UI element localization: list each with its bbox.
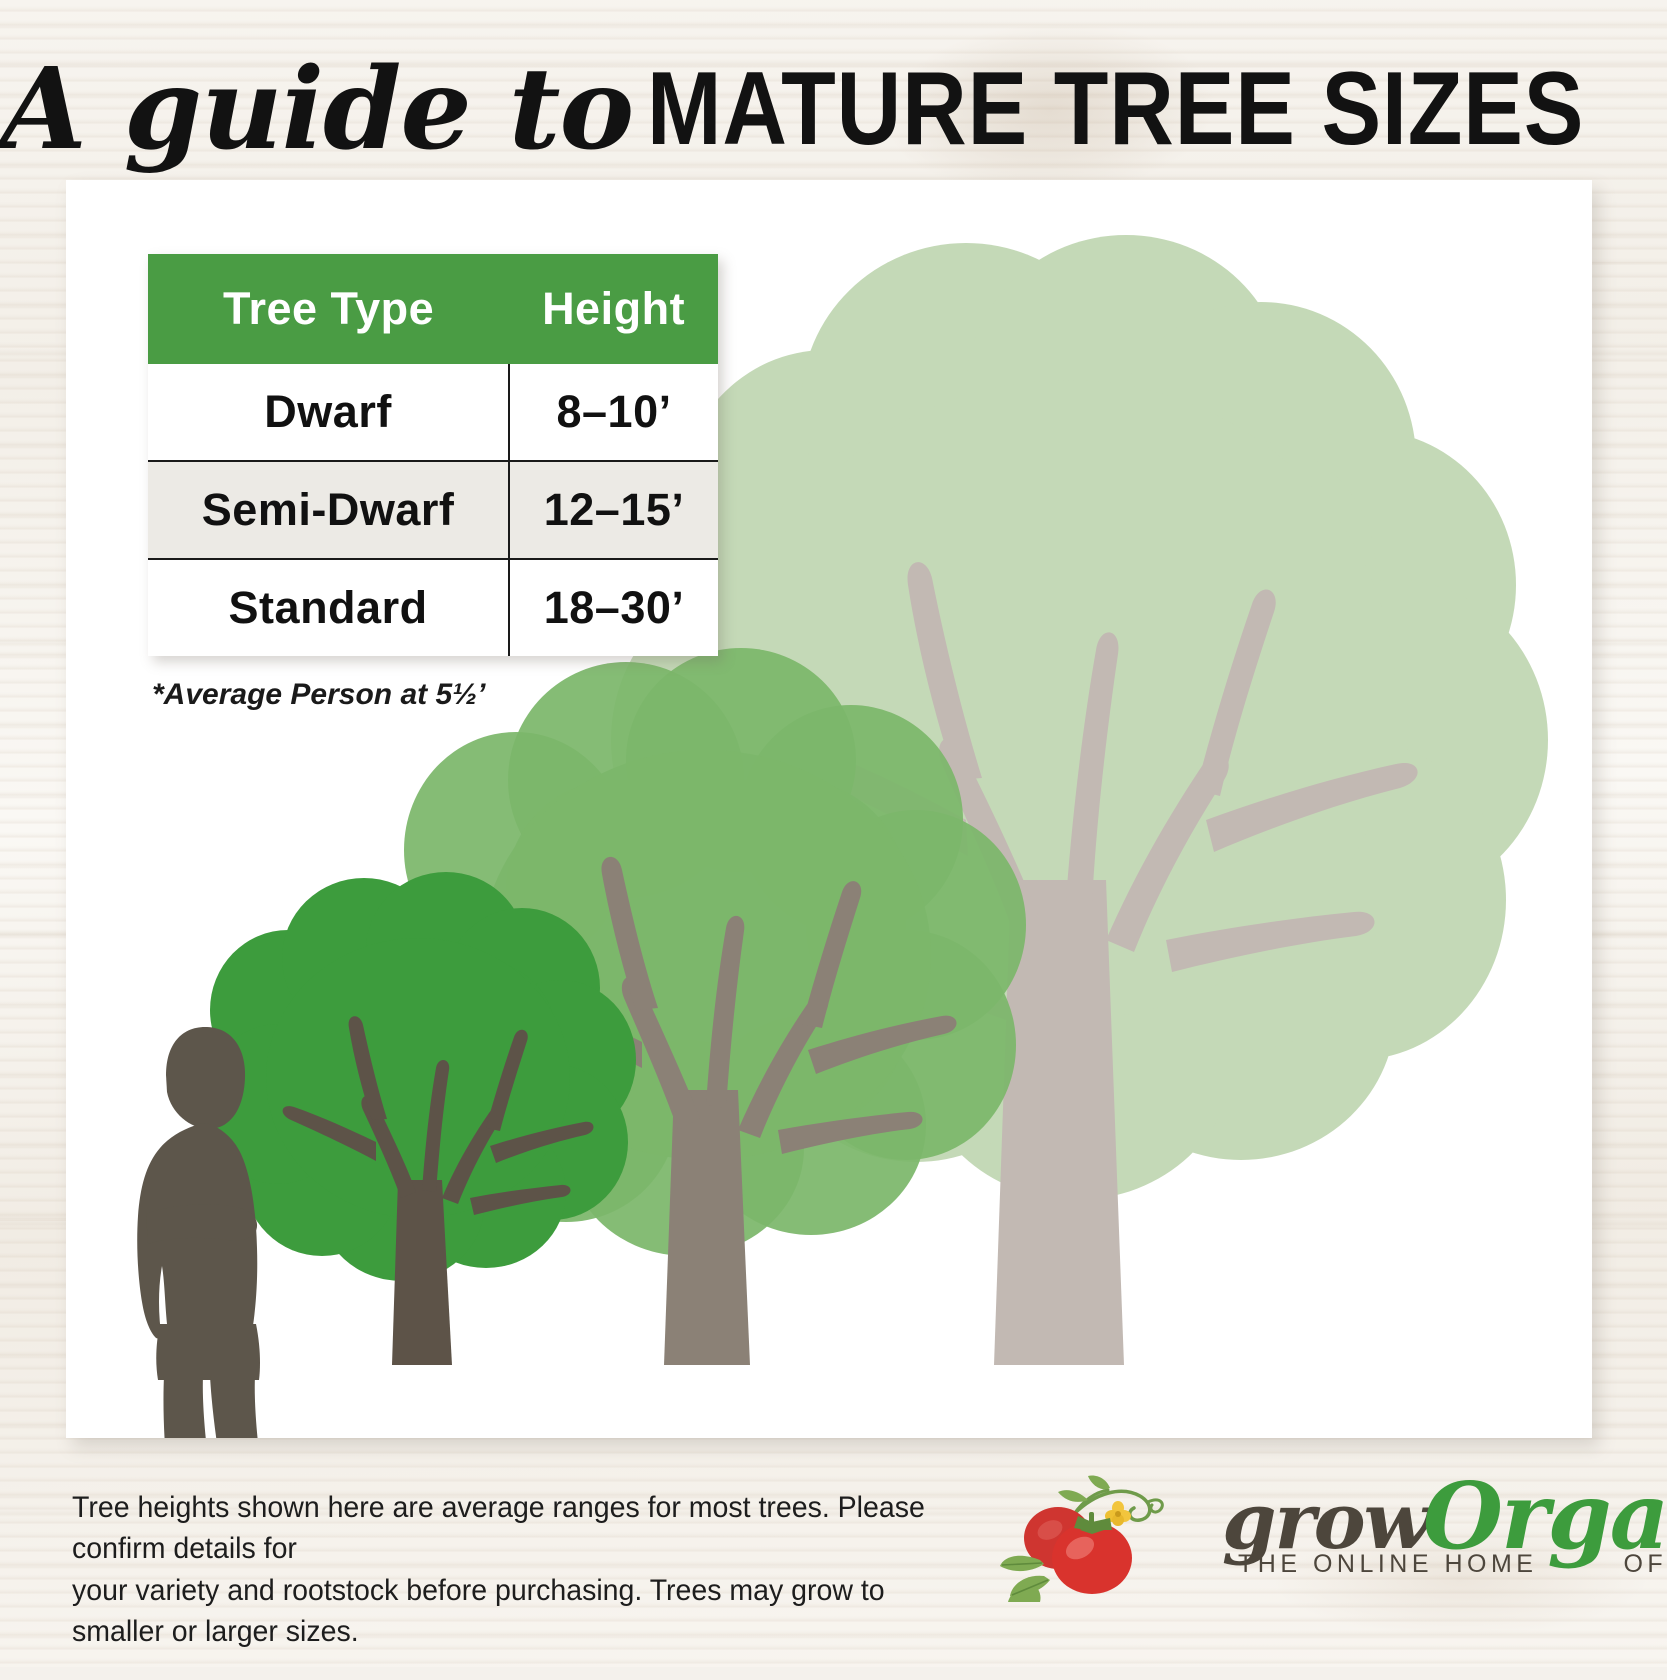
disclaimer-line-1: Tree heights shown here are average rang… [72, 1487, 927, 1570]
table-row: Dwarf 8–10’ [148, 364, 718, 461]
logo-tagline-right: OF PEACEFUL VALLEY [1623, 1550, 1667, 1578]
grow-organic-logo[interactable]: growOrganic.COM THE ONLINE HOMEOF PEACEF… [1000, 1452, 1620, 1602]
title-script-text: A guide to [0, 44, 633, 175]
cell-tree-type: Standard [148, 559, 509, 656]
logo-tagline: THE ONLINE HOMEOF PEACEFUL VALLEY [1238, 1550, 1667, 1579]
table-row: Semi-Dwarf 12–15’ [148, 461, 718, 559]
table-header-row: Tree Type Height [148, 254, 718, 364]
tree-size-table: Tree Type Height Dwarf 8–10’ Semi-Dwarf … [148, 254, 718, 656]
table-header-tree-type: Tree Type [148, 254, 509, 364]
cell-tree-type: Dwarf [148, 364, 509, 461]
dwarf-tree [203, 872, 636, 1365]
table-footnote: *Average Person at 5½’ [152, 678, 486, 712]
table-row: Standard 18–30’ [148, 559, 718, 656]
logo-tagline-left: THE ONLINE HOME [1238, 1550, 1537, 1578]
cell-tree-type: Semi-Dwarf [148, 461, 509, 559]
title-block-text: MATURE TREE SIZES [647, 57, 1584, 161]
tomato-vine-icon [1000, 1452, 1220, 1602]
cell-height: 18–30’ [509, 559, 718, 656]
table-header-height: Height [509, 254, 718, 364]
page-title: A guide toMATURE TREE SIZES [0, 54, 1667, 184]
disclaimer-text: Tree heights shown here are average rang… [72, 1487, 927, 1653]
cell-height: 12–15’ [509, 461, 718, 559]
disclaimer-line-2: your variety and rootstock before purcha… [72, 1570, 927, 1653]
cell-height: 8–10’ [509, 364, 718, 461]
